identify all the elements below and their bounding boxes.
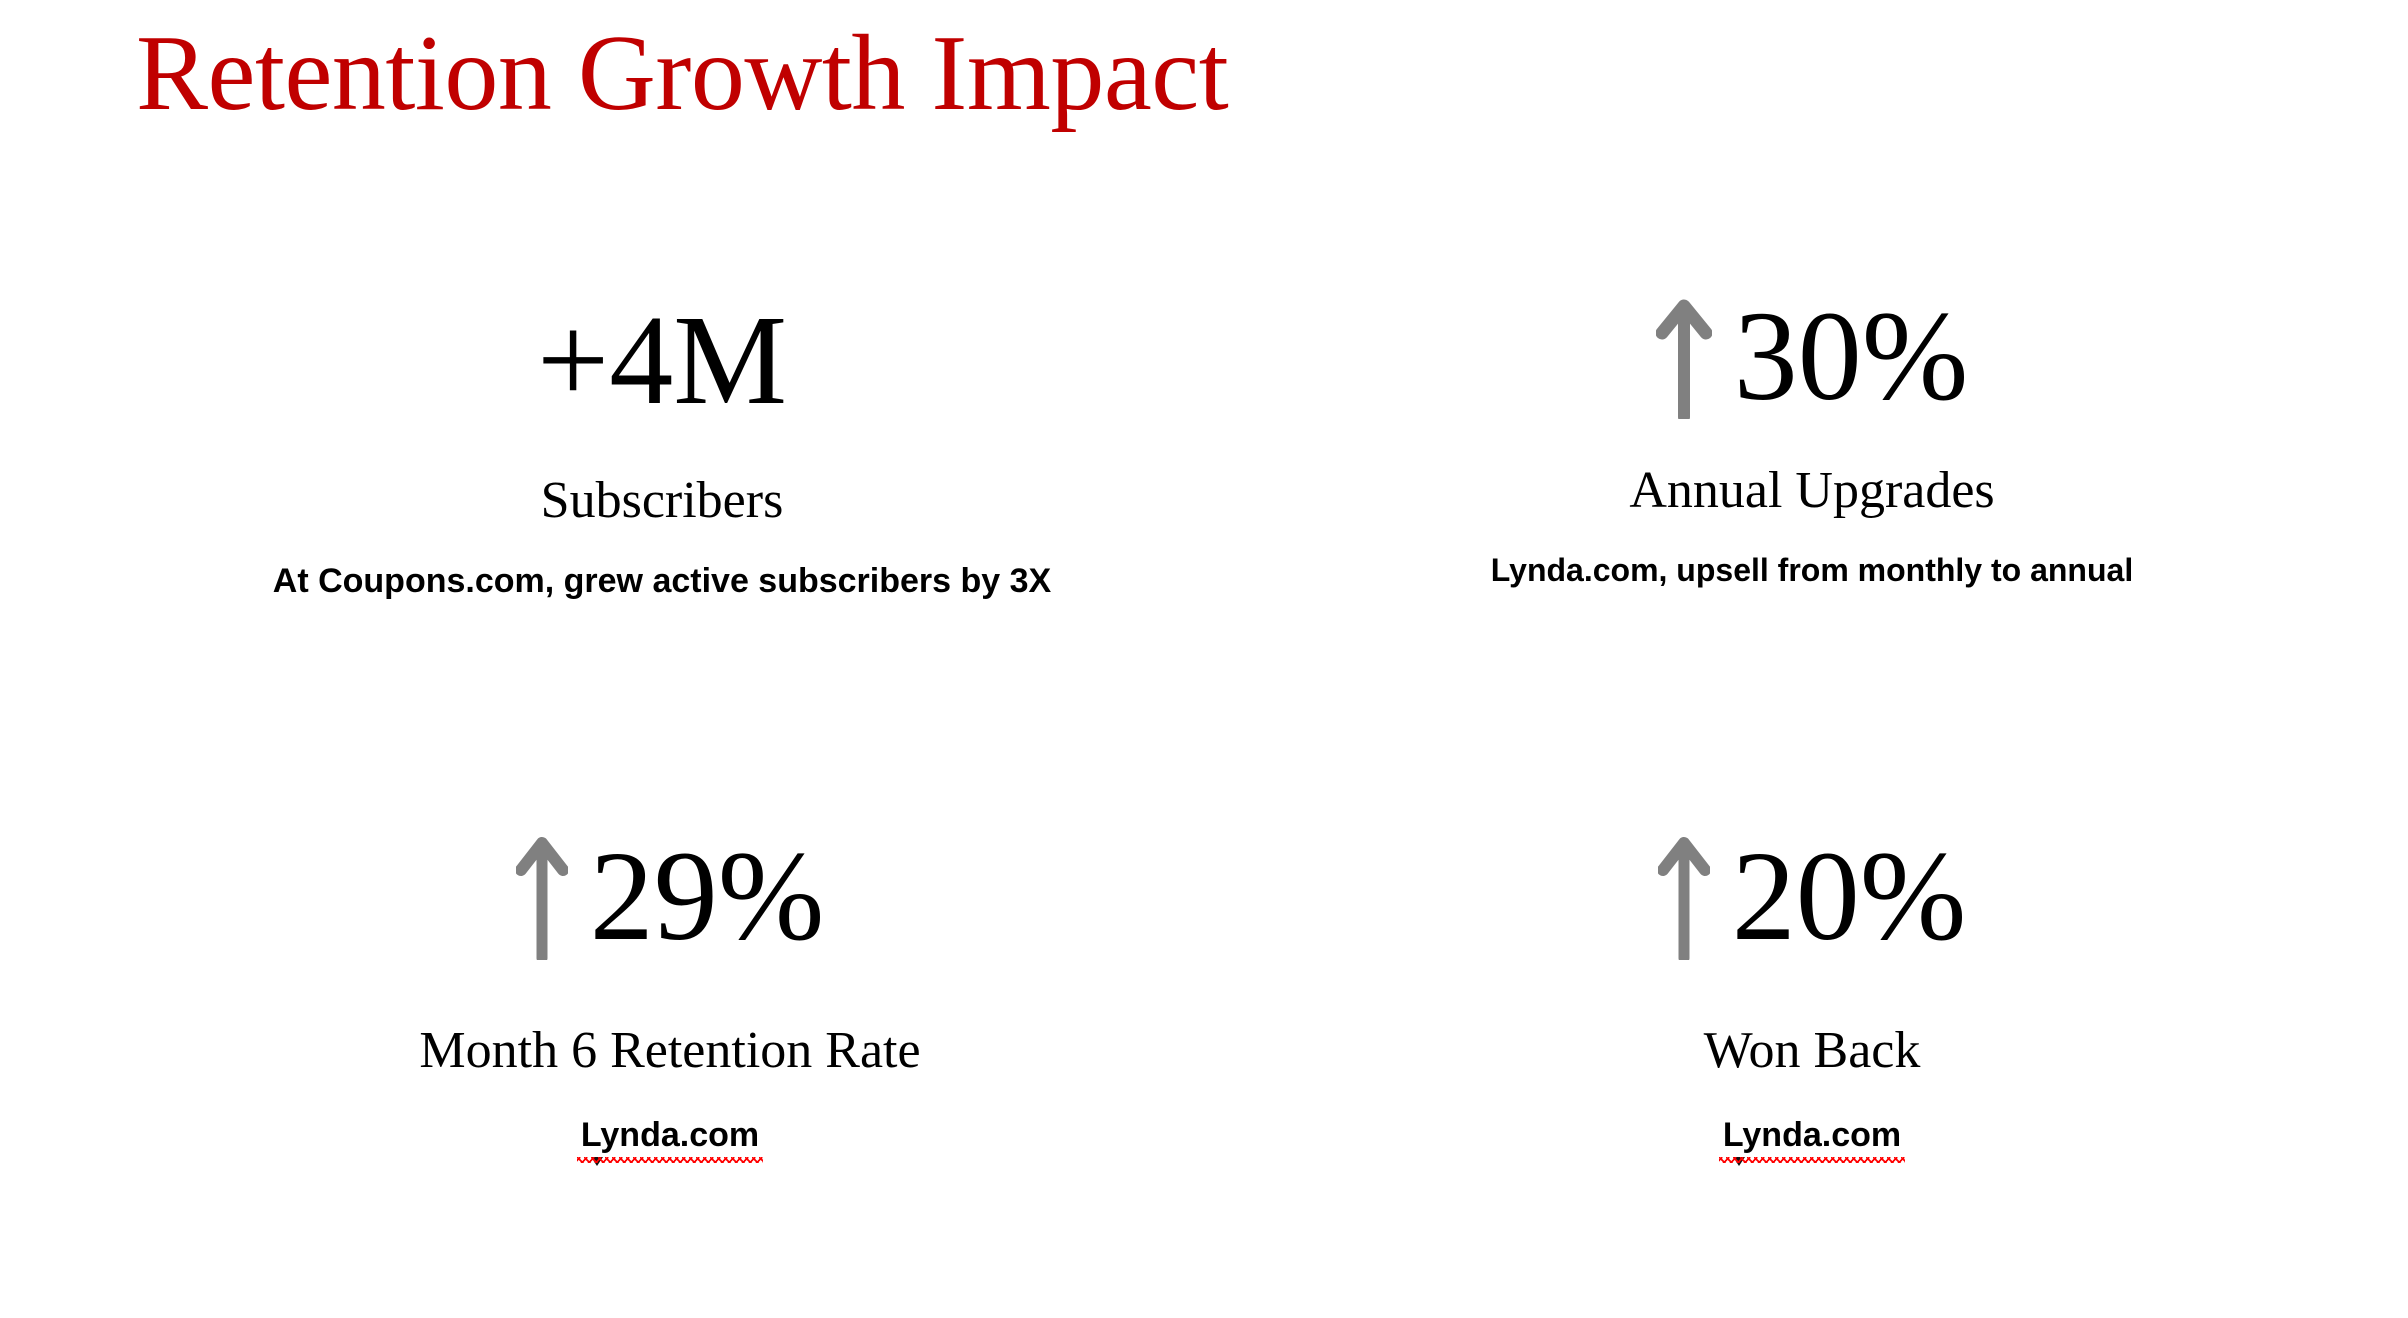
stat-label: Month 6 Retention Rate — [180, 1022, 1160, 1079]
stat-label: Won Back — [1322, 1022, 2302, 1079]
stat-value: 29% — [590, 832, 825, 960]
stat-value-row: 30% — [1322, 286, 2302, 426]
stat-caption: Lynda.com — [1322, 1115, 2302, 1159]
stat-label: Subscribers — [172, 472, 1152, 529]
misspelled-word: Lynda.com — [581, 1115, 759, 1159]
page-title: Retention Growth Impact — [136, 14, 1228, 135]
stat-block-won-back: 20% Won Back Lynda.com — [1322, 826, 2302, 1159]
up-arrow-icon — [516, 832, 568, 960]
stat-label: Annual Upgrades — [1322, 462, 2302, 519]
stat-value-row: 20% — [1322, 826, 2302, 966]
up-arrow-icon — [1658, 832, 1710, 960]
stat-value: 20% — [1732, 832, 1967, 960]
stat-value-row: +4M — [172, 290, 1152, 430]
misspelled-word: Lynda.com — [1723, 1115, 1901, 1159]
stat-block-month-6-retention-rate: 29% Month 6 Retention Rate Lynda.com — [180, 826, 1160, 1159]
up-arrow-icon — [1656, 293, 1712, 419]
slide-canvas: Retention Growth Impact +4M Subscribers … — [0, 0, 2408, 1318]
stat-caption: Lynda.com — [180, 1115, 1160, 1159]
stat-caption: Lynda.com, upsell from monthly to annual — [1322, 551, 2302, 589]
stat-value-row: 29% — [180, 826, 1160, 966]
stat-value: 30% — [1734, 292, 1969, 420]
stat-caption: At Coupons.com, grew active subscribers … — [172, 561, 1152, 602]
stat-block-annual-upgrades: 30% Annual Upgrades Lynda.com, upsell fr… — [1322, 286, 2302, 590]
stat-block-subscribers: +4M Subscribers At Coupons.com, grew act… — [172, 290, 1152, 602]
stat-value: +4M — [537, 296, 787, 424]
